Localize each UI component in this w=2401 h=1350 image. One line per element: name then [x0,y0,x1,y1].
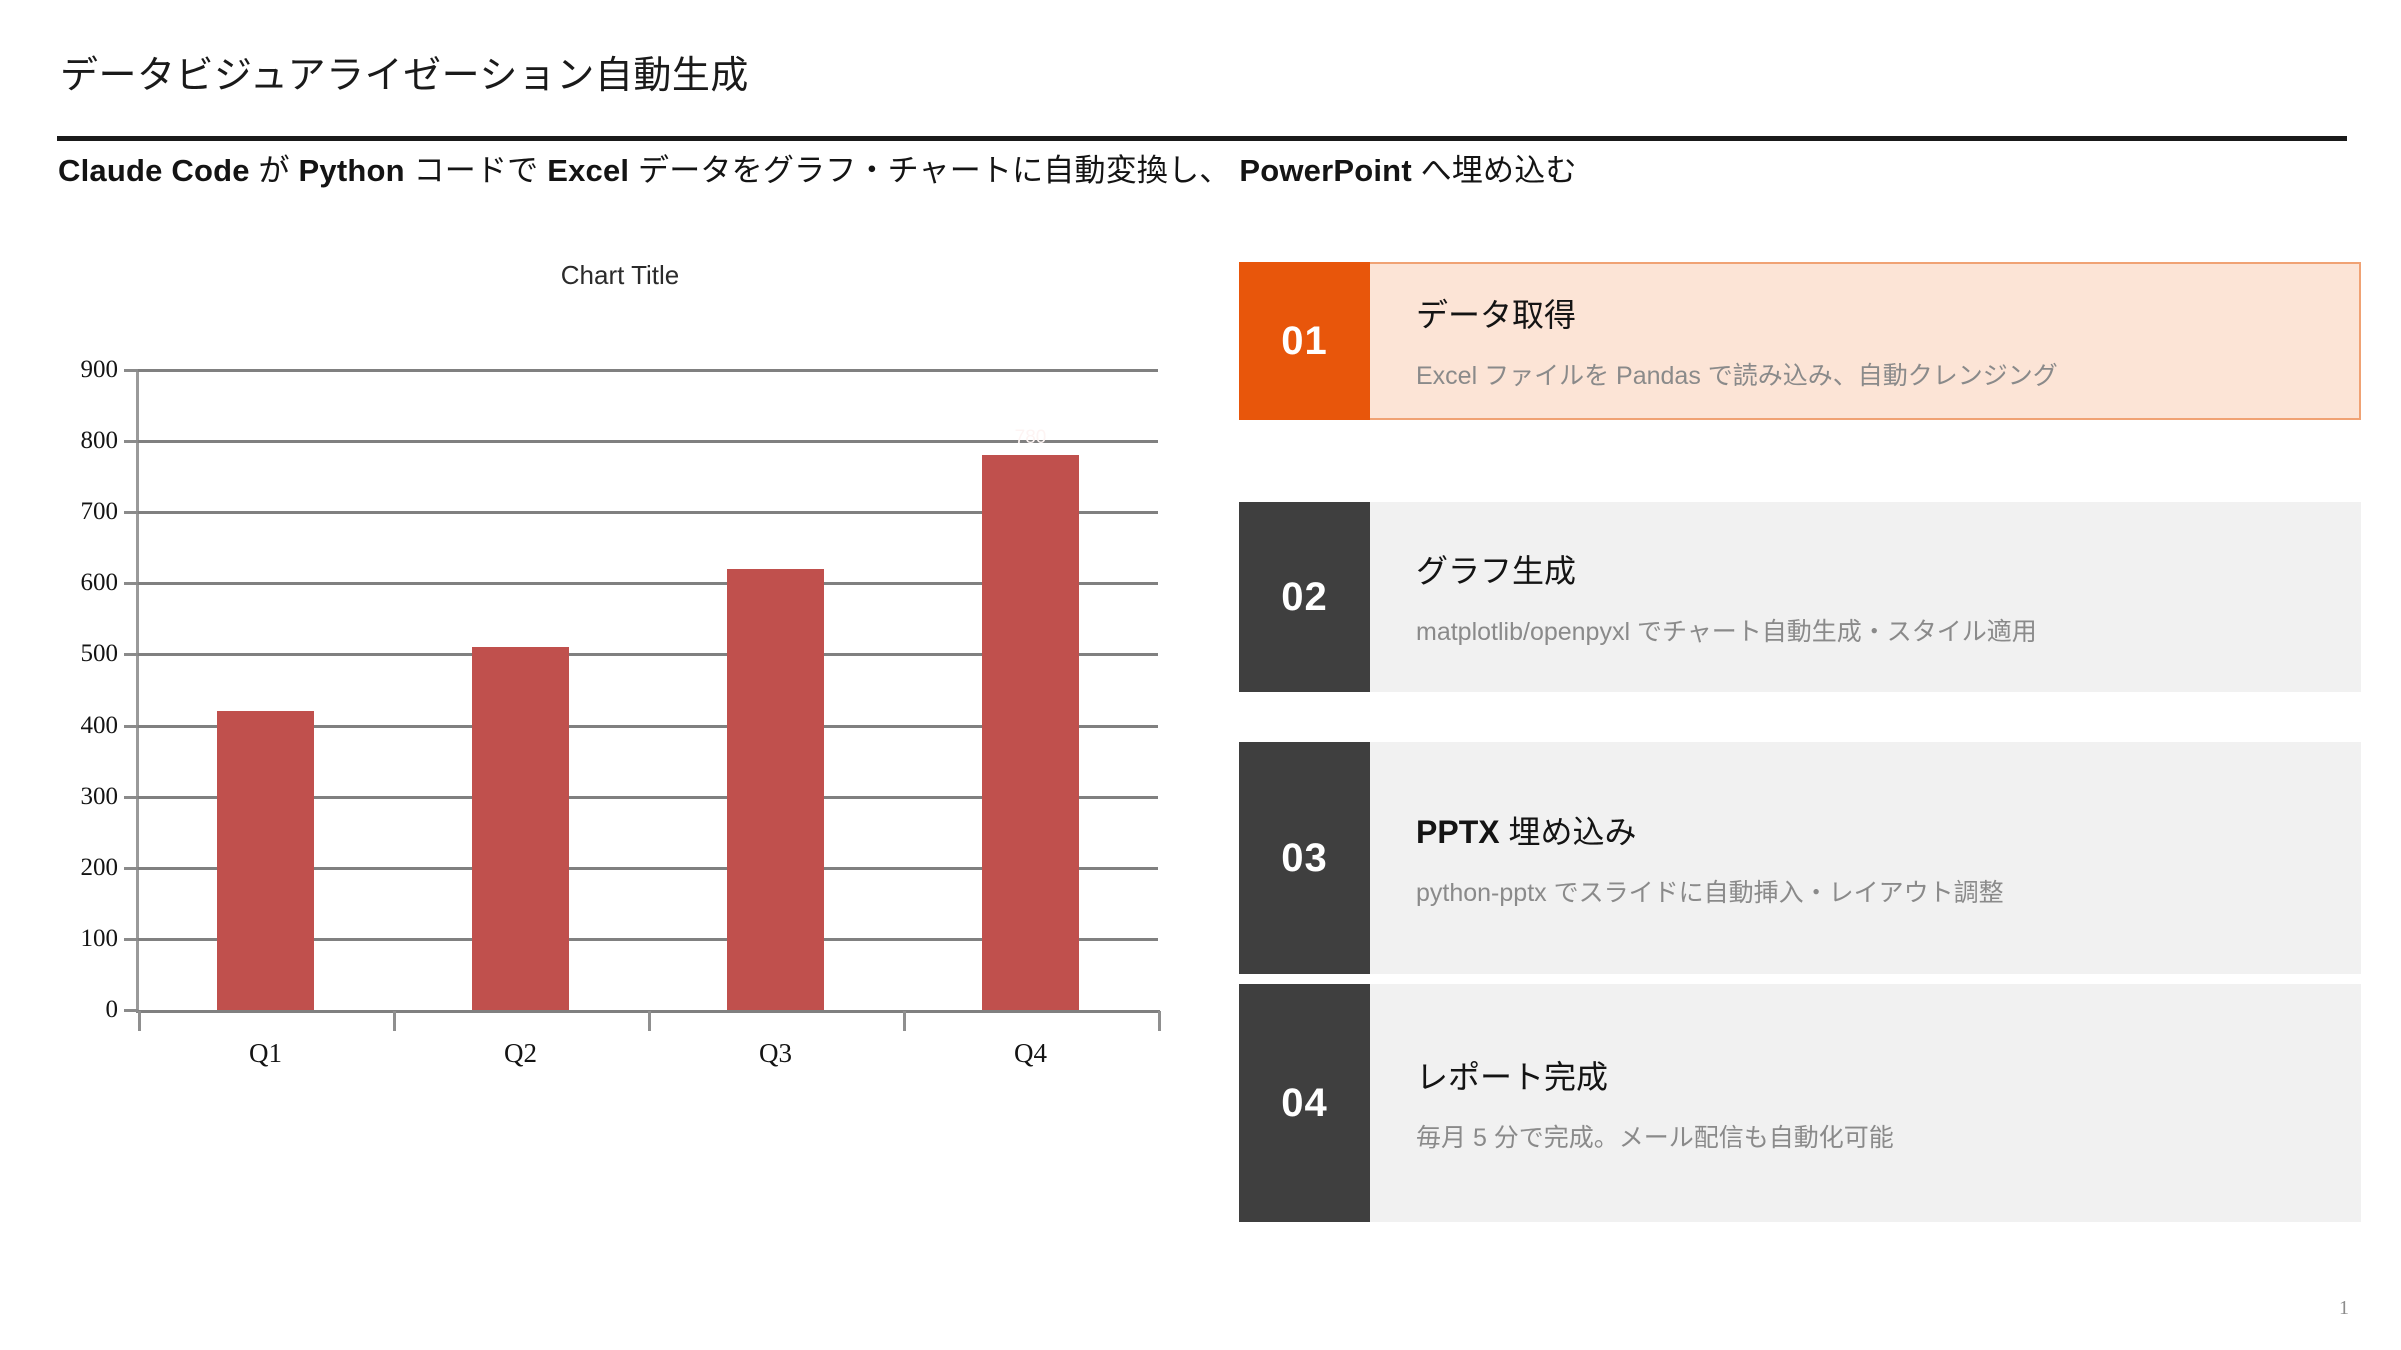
bar-q4 [982,455,1079,1010]
step-card-03[interactable]: 03PPTX 埋め込みpython-pptx でスライドに自動挿入・レイアウト調… [1239,742,2361,974]
y-tick-label: 800 [81,427,119,455]
y-tick-mark [124,582,138,585]
y-tick-label: 400 [81,712,119,740]
step-heading: グラフ生成 [1416,546,2361,592]
bar-q2 [472,647,569,1010]
step-description: python-pptx でスライドに自動挿入・レイアウト調整 [1416,873,2361,909]
bar-q1 [217,711,314,1010]
step-description: matplotlib/openpyxl でチャート自動生成・スタイル適用 [1416,612,2361,648]
y-tick-mark [124,796,138,799]
step-heading: レポート完成 [1416,1052,2361,1098]
step-card-04[interactable]: 04レポート完成毎月 5 分で完成。メール配信も自動化可能 [1239,984,2361,1222]
step-card-body: グラフ生成matplotlib/openpyxl でチャート自動生成・スタイル適… [1370,502,2361,692]
step-heading: データ取得 [1416,290,2359,336]
step-card-body: PPTX 埋め込みpython-pptx でスライドに自動挿入・レイアウト調整 [1370,742,2361,974]
x-tick-mark [648,1011,651,1031]
y-tick-mark [124,369,138,372]
step-number-badge: 01 [1239,262,1370,420]
step-description: 毎月 5 分で完成。メール配信も自動化可能 [1416,1118,2361,1154]
y-tick-label: 100 [81,925,119,953]
step-description: Excel ファイルを Pandas で読み込み、自動クレンジング [1416,356,2359,392]
y-tick-label: 900 [81,356,119,384]
x-axis-label-q3: Q3 [676,1038,876,1069]
x-tick-mark [138,1011,141,1031]
subtitle-segment-2: Python [299,153,405,188]
y-tick-mark [124,725,138,728]
subtitle-segment-0: Claude Code [58,153,250,188]
y-tick-label: 200 [81,854,119,882]
title-divider [57,136,2347,141]
y-tick-mark [124,653,138,656]
y-tick-label: 700 [81,498,119,526]
step-heading-prefix: PPTX [1416,814,1500,850]
process-step-list: 01データ取得Excel ファイルを Pandas で読み込み、自動クレンジング… [1239,262,2361,1222]
x-axis-label-q2: Q2 [421,1038,621,1069]
y-tick-label: 500 [81,640,119,668]
x-tick-mark [903,1011,906,1031]
y-tick-mark [124,1009,138,1012]
step-heading: PPTX 埋め込み [1416,807,2361,853]
step-card-02[interactable]: 02グラフ生成matplotlib/openpyxl でチャート自動生成・スタイ… [1239,502,2361,692]
subtitle-segment-3: コードで [405,153,547,188]
y-tick-label: 300 [81,783,119,811]
subtitle-segment-1: が [250,153,299,188]
y-tick-mark [124,511,138,514]
bar-q3 [727,569,824,1010]
subtitle-segment-4: Excel [547,153,629,188]
step-number-badge: 02 [1239,502,1370,692]
step-number-badge: 04 [1239,984,1370,1222]
bar-chart: Chart Title 0100200300400500600700800900… [60,260,1180,1240]
x-axis-label-q4: Q4 [931,1038,1131,1069]
slide: データビジュアライゼーション自動生成 Claude Code が Python … [0,0,2401,1350]
page-title: データビジュアライゼーション自動生成 [60,44,749,99]
subtitle-segment-7: へ埋め込む [1412,153,1577,188]
x-tick-mark [393,1011,396,1031]
subtitle-segment-6: PowerPoint [1239,153,1412,188]
step-card-body: データ取得Excel ファイルを Pandas で読み込み、自動クレンジング [1370,264,2359,418]
step-number-badge: 03 [1239,742,1370,974]
page-subtitle: Claude Code が Python コードで Excel データをグラフ・… [58,145,1577,190]
subtitle-segment-5: データをグラフ・チャートに自動変換し、 [629,153,1239,188]
y-tick-label: 600 [81,569,119,597]
bar-data-label: 780 [971,427,1091,449]
step-card-body: レポート完成毎月 5 分で完成。メール配信も自動化可能 [1370,984,2361,1222]
page-number: 1 [2339,1297,2349,1320]
chart-bars: 780 [138,370,1158,1010]
chart-plot-area: 0100200300400500600700800900 780 Q1Q2Q3Q… [138,370,1158,1010]
y-tick-mark [124,867,138,870]
x-axis-label-q1: Q1 [166,1038,366,1069]
step-card-01[interactable]: 01データ取得Excel ファイルを Pandas で読み込み、自動クレンジング [1239,262,2361,420]
chart-title: Chart Title [60,260,1180,291]
y-tick-mark [124,938,138,941]
y-tick-mark [124,440,138,443]
y-tick-label: 0 [106,996,119,1024]
x-tick-mark [1158,1011,1161,1031]
